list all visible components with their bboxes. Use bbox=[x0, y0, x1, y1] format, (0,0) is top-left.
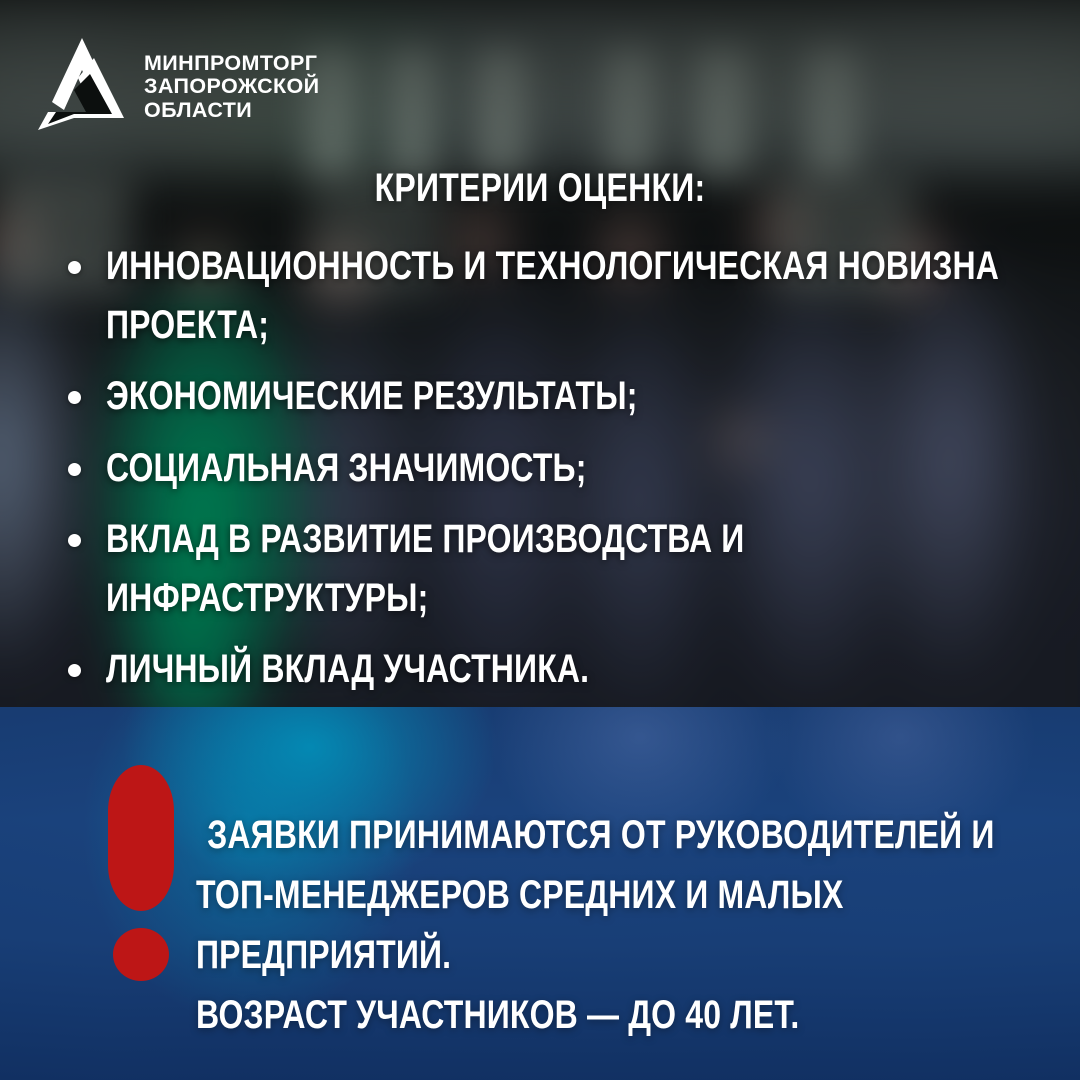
brand-name: МИНПРОМТОРГ ЗАПОРОЖСКОЙ ОБЛАСТИ bbox=[144, 50, 320, 122]
criteria-list-item: ИННОВАЦИОННОСТЬ И ТЕХНОЛОГИЧЕСКАЯ НОВИЗН… bbox=[66, 237, 1056, 355]
notice-line: ЗАЯВКИ ПРИНИМАЮТСЯ ОТ РУКОВОДИТЕЛЕЙ И bbox=[196, 805, 1052, 865]
notice-banner-inner: ЗАЯВКИ ПРИНИМАЮТСЯ ОТ РУКОВОДИТЕЛЕЙ И ТО… bbox=[0, 707, 1080, 1080]
notice-banner: ЗАЯВКИ ПРИНИМАЮТСЯ ОТ РУКОВОДИТЕЛЕЙ И ТО… bbox=[0, 707, 1080, 1080]
notice-line-text: ВОЗРАСТ УЧАСТНИКОВ — ДО 40 ЛЕТ. bbox=[196, 985, 1052, 1045]
exclamation-dot bbox=[113, 928, 169, 981]
criteria-item-text: ЛИЧНЫЙ ВКЛАД УЧАСТНИКА. bbox=[106, 640, 1056, 699]
criteria-list-item: СОЦИАЛЬНАЯ ЗНАЧИМОСТЬ; bbox=[66, 439, 1056, 498]
criteria-list-item: ЭКОНОМИЧЕСКИЕ РЕЗУЛЬТАТЫ; bbox=[66, 367, 1056, 426]
notice-line: ВОЗРАСТ УЧАСТНИКОВ — ДО 40 ЛЕТ. bbox=[196, 985, 1052, 1045]
notice-line-text: ТОП-МЕНЕДЖЕРОВ СРЕДНИХ И МАЛЫХ ПРЕДПРИЯТ… bbox=[196, 865, 1052, 985]
brand-logo: МИНПРОМТОРГ ЗАПОРОЖСКОЙ ОБЛАСТИ bbox=[34, 34, 320, 138]
criteria-list-item: ВКЛАД В РАЗВИТИЕ ПРОИЗВОДСТВА И ИНФРАСТР… bbox=[66, 510, 1056, 628]
criteria-list-item: ЛИЧНЫЙ ВКЛАД УЧАСТНИКА. bbox=[66, 640, 1056, 699]
criteria-item-text: ЭКОНОМИЧЕСКИЕ РЕЗУЛЬТАТЫ; bbox=[106, 367, 1056, 426]
triangle-arrow-logo-icon bbox=[34, 34, 130, 138]
notice-line: ТОП-МЕНЕДЖЕРОВ СРЕДНИХ И МАЛЫХ ПРЕДПРИЯТ… bbox=[196, 865, 1052, 985]
criteria-title: КРИТЕРИИ ОЦЕНКИ: bbox=[108, 166, 972, 211]
criteria-section: КРИТЕРИИ ОЦЕНКИ: ИННОВАЦИОННОСТЬ И ТЕХНО… bbox=[0, 166, 1080, 711]
poster-canvas: МИНПРОМТОРГ ЗАПОРОЖСКОЙ ОБЛАСТИ КРИТЕРИИ… bbox=[0, 0, 1080, 1080]
criteria-item-text: СОЦИАЛЬНАЯ ЗНАЧИМОСТЬ; bbox=[106, 439, 1056, 498]
exclamation-bar bbox=[108, 765, 174, 911]
criteria-item-text: ВКЛАД В РАЗВИТИЕ ПРОИЗВОДСТВА И ИНФРАСТР… bbox=[106, 510, 1056, 628]
criteria-list: ИННОВАЦИОННОСТЬ И ТЕХНОЛОГИЧЕСКАЯ НОВИЗН… bbox=[0, 237, 1080, 699]
notice-text: ЗАЯВКИ ПРИНИМАЮТСЯ ОТ РУКОВОДИТЕЛЕЙ И ТО… bbox=[196, 805, 1052, 1045]
notice-line-text: ЗАЯВКИ ПРИНИМАЮТСЯ ОТ РУКОВОДИТЕЛЕЙ И bbox=[196, 805, 1063, 865]
exclamation-mark-icon bbox=[105, 765, 177, 980]
criteria-item-text: ИННОВАЦИОННОСТЬ И ТЕХНОЛОГИЧЕСКАЯ НОВИЗН… bbox=[106, 237, 1056, 355]
